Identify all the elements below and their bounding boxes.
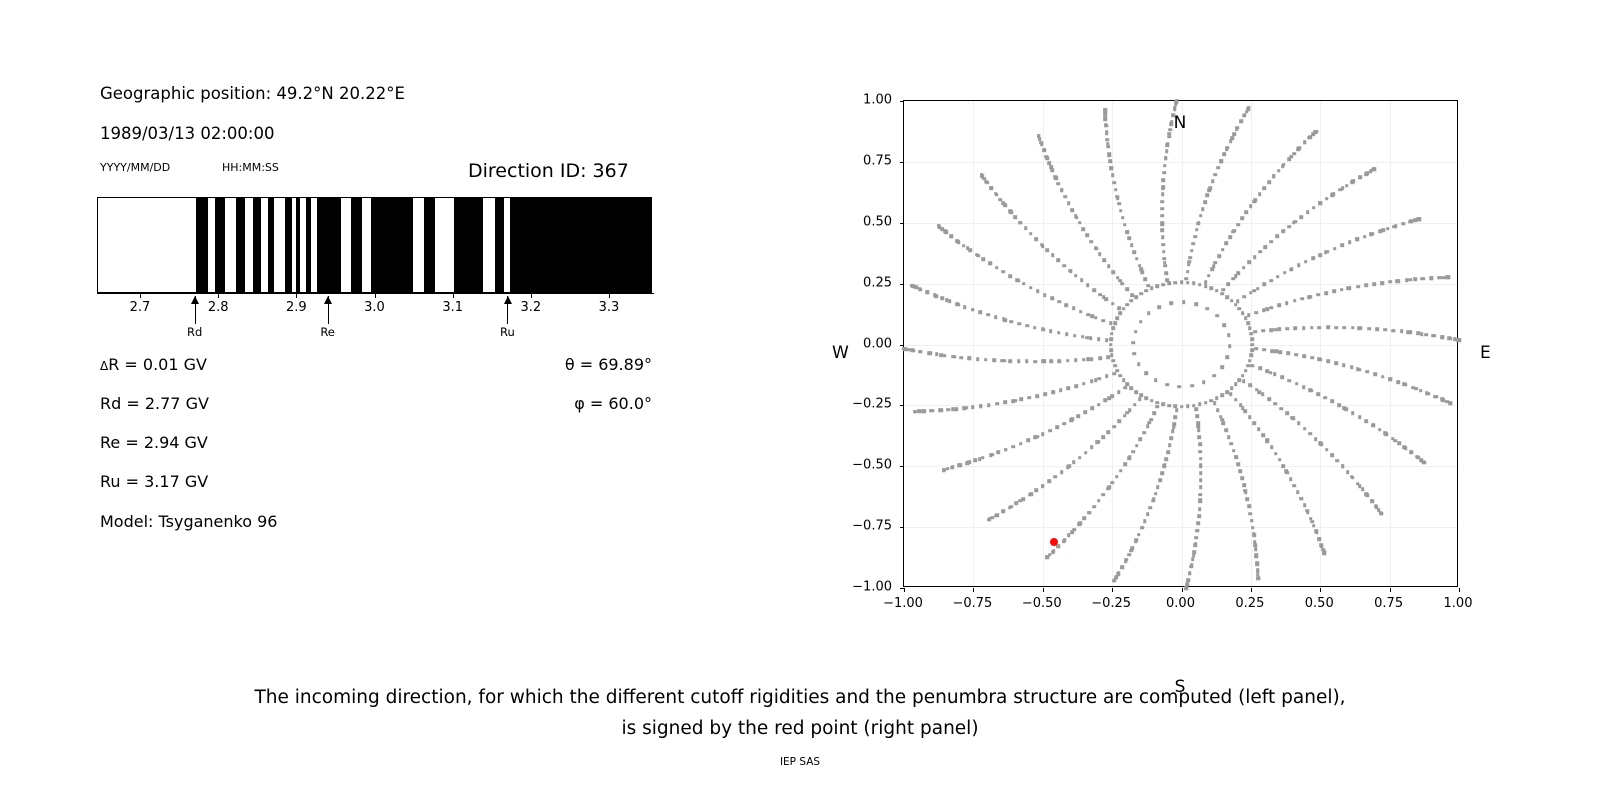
direction-point	[1111, 270, 1115, 274]
direction-point	[1243, 295, 1247, 299]
direction-point	[1169, 301, 1173, 305]
direction-point	[1270, 306, 1274, 310]
direction-point	[1172, 422, 1176, 426]
direction-point	[1130, 299, 1134, 303]
direction-point	[1161, 283, 1165, 287]
direction-point	[1072, 307, 1076, 311]
direction-point	[1427, 392, 1431, 396]
direction-point	[958, 464, 962, 468]
direction-point	[1158, 478, 1162, 482]
direction-point	[1269, 328, 1273, 332]
x-axis-tick-label: −1.00	[883, 596, 923, 611]
direction-point	[1371, 424, 1375, 428]
direction-point	[1449, 402, 1453, 406]
x-axis-tick-label: 0.75	[1374, 596, 1403, 611]
selected-direction-point[interactable]	[1050, 538, 1058, 546]
direction-point	[1138, 264, 1142, 268]
direction-point	[1025, 360, 1029, 364]
direction-point	[1198, 403, 1202, 407]
direction-point	[1109, 348, 1113, 352]
direction-point	[1174, 405, 1178, 409]
direction-point	[1236, 126, 1240, 130]
direction-point	[1355, 238, 1359, 242]
direction-point	[1371, 232, 1375, 236]
direction-point	[956, 239, 960, 243]
direction-point	[1263, 348, 1267, 352]
param-ru: Ru = 3.17 GV	[100, 472, 208, 491]
direction-point	[1229, 442, 1233, 446]
direction-point	[1240, 217, 1244, 221]
direction-point	[1104, 123, 1108, 127]
direction-point	[1110, 395, 1114, 399]
direction-point	[1351, 411, 1355, 415]
direction-point	[1097, 403, 1101, 407]
direction-point	[1128, 237, 1132, 241]
direction-point	[1041, 432, 1045, 436]
direction-point	[1199, 478, 1203, 482]
direction-point	[995, 402, 999, 406]
direction-point	[1124, 559, 1128, 563]
direction-point	[1125, 383, 1129, 387]
direction-point	[1111, 359, 1115, 363]
direction-point	[1033, 326, 1037, 330]
direction-point	[1297, 264, 1301, 268]
direction-point	[1285, 412, 1289, 416]
direction-point	[1139, 292, 1143, 296]
direction-point	[1161, 243, 1165, 247]
direction-point	[1196, 421, 1200, 425]
direction-point	[1345, 184, 1349, 188]
direction-point	[1418, 217, 1422, 221]
direction-point	[1289, 477, 1293, 481]
direction-point	[1160, 214, 1164, 218]
direction-point	[1114, 188, 1118, 192]
direction-point	[1219, 159, 1223, 163]
direction-point	[1244, 316, 1248, 320]
direction-point	[1134, 295, 1138, 299]
direction-point	[1358, 368, 1362, 372]
time-format-hint: HH:MM:SS	[222, 161, 279, 174]
direction-point	[1230, 299, 1234, 303]
direction-point	[1125, 230, 1129, 234]
direction-point	[1113, 364, 1117, 368]
direction-point	[1067, 386, 1071, 390]
direction-point	[1282, 163, 1286, 167]
direction-point	[1082, 382, 1086, 386]
direction-point	[1333, 247, 1337, 251]
direction-point	[1249, 332, 1253, 336]
direction-point	[1111, 302, 1115, 306]
direction-point	[1255, 562, 1259, 566]
direction-point	[992, 359, 996, 363]
direction-point	[1045, 248, 1049, 252]
direction-point	[1277, 169, 1281, 173]
direction-point	[1195, 228, 1199, 232]
direction-point	[1043, 293, 1047, 297]
direction-point	[1340, 288, 1344, 292]
direction-point	[1350, 366, 1354, 370]
y-axis-tick-label: 0.00	[828, 336, 892, 351]
penumbra-forbidden-bar	[215, 198, 225, 292]
direction-point	[1115, 475, 1119, 479]
direction-point	[1080, 279, 1084, 283]
direction-point	[1248, 327, 1252, 331]
direction-point	[1363, 235, 1367, 239]
penumbra-forbidden-bar	[253, 198, 261, 292]
x-axis-tick	[1459, 588, 1460, 592]
direction-point	[985, 180, 989, 184]
direction-point	[1297, 422, 1301, 426]
direction-point	[1154, 378, 1158, 382]
direction-point	[1156, 401, 1160, 405]
direction-point	[1070, 418, 1074, 422]
direction-point	[1225, 295, 1229, 299]
direction-point	[1131, 546, 1135, 550]
direction-point	[1291, 417, 1295, 421]
direction-point	[1195, 536, 1199, 540]
direction-point	[1070, 208, 1074, 212]
direction-point	[1449, 337, 1453, 341]
direction-point	[1303, 504, 1307, 508]
direction-point	[1082, 517, 1086, 521]
direction-point	[1074, 384, 1078, 388]
direction-point	[1135, 257, 1139, 261]
direction-point	[1303, 427, 1307, 431]
direction-point	[1117, 390, 1121, 394]
x-axis-tick-label: −0.50	[1022, 596, 1062, 611]
direction-point	[1213, 402, 1217, 406]
direction-point	[1173, 106, 1177, 110]
direction-point	[1232, 449, 1236, 453]
direction-point	[1262, 308, 1266, 312]
direction-point	[1167, 135, 1171, 139]
direction-point	[1341, 464, 1345, 468]
direction-point	[1232, 133, 1236, 137]
direction-point	[1105, 338, 1109, 342]
x-axis-tick	[1182, 588, 1183, 592]
datetime-label: 1989/03/13 02:00:00	[100, 124, 274, 143]
direction-point	[1196, 529, 1200, 533]
direction-point	[1027, 396, 1031, 400]
y-axis-tick-label: 0.50	[828, 214, 892, 229]
direction-point	[1123, 463, 1127, 467]
direction-point	[976, 357, 980, 361]
direction-point	[1261, 393, 1265, 397]
direction-point	[1325, 197, 1329, 201]
direction-point	[1380, 281, 1384, 285]
direction-point	[980, 174, 984, 178]
direction-point	[1442, 398, 1446, 402]
direction-point	[1292, 152, 1296, 156]
direction-point	[1175, 408, 1179, 412]
param-re: Re = 2.94 GV	[100, 433, 208, 452]
direction-point	[1204, 401, 1208, 405]
direction-point	[1298, 146, 1302, 150]
axis-tick-label: 2.9	[286, 300, 307, 315]
direction-point	[1276, 275, 1280, 279]
direction-point	[1096, 441, 1100, 445]
direction-point	[1163, 164, 1167, 168]
direction-point	[981, 456, 985, 460]
direction-point	[1261, 433, 1265, 437]
direction-point	[963, 406, 967, 410]
direction-point	[1170, 436, 1174, 440]
direction-point	[1022, 282, 1026, 286]
direction-point	[1199, 486, 1203, 490]
direction-point	[1034, 238, 1038, 242]
direction-point	[1068, 269, 1072, 273]
direction-point	[1219, 415, 1223, 419]
direction-point	[1226, 355, 1230, 359]
direction-point	[1285, 301, 1289, 305]
direction-point	[1116, 369, 1120, 373]
x-axis-tick-label: −0.25	[1091, 596, 1131, 611]
direction-point	[1013, 215, 1017, 219]
direction-point	[1116, 572, 1120, 576]
direction-point	[1060, 470, 1064, 474]
direction-point	[1144, 371, 1148, 375]
direction-point	[1144, 277, 1148, 281]
direction-point	[1379, 512, 1383, 516]
direction-point	[1300, 215, 1304, 219]
direction-point	[1144, 289, 1148, 293]
penumbra-band	[97, 197, 652, 293]
axis-tick	[218, 293, 219, 298]
direction-point	[1199, 471, 1203, 475]
direction-point	[1275, 235, 1279, 239]
direction-point	[1309, 517, 1313, 521]
marker-arrow-ru	[507, 296, 508, 324]
y-axis-tick-label: 0.25	[828, 275, 892, 290]
direction-point	[1105, 374, 1109, 378]
penumbra-forbidden-bar	[454, 198, 484, 292]
direction-point	[1397, 442, 1401, 446]
direction-point	[1282, 464, 1286, 468]
direction-point	[1057, 182, 1061, 186]
direction-point	[1079, 310, 1083, 314]
direction-point	[1065, 332, 1069, 336]
direction-point	[1273, 328, 1277, 332]
penumbra-forbidden-bar	[510, 198, 652, 292]
y-axis-tick	[900, 405, 904, 406]
direction-point	[1188, 256, 1192, 260]
direction-point	[1290, 267, 1294, 271]
direction-point	[1198, 443, 1202, 447]
direction-point	[1258, 250, 1262, 254]
penumbra-forbidden-bar	[268, 198, 274, 292]
direction-point	[1140, 526, 1144, 530]
direction-point	[1280, 376, 1284, 380]
direction-point	[1139, 320, 1143, 324]
direction-point	[1266, 307, 1270, 311]
direction-point	[1121, 216, 1125, 220]
direction-point	[1057, 331, 1061, 335]
direction-point	[1113, 321, 1117, 325]
axis-tick-label: 3.1	[442, 300, 463, 315]
direction-point	[1134, 390, 1138, 394]
direction-point	[1119, 469, 1123, 473]
direction-point	[1370, 500, 1374, 504]
direction-point	[1028, 493, 1032, 497]
direction-point	[1317, 538, 1321, 542]
direction-point	[1059, 389, 1063, 393]
direction-point	[1269, 279, 1273, 283]
direction-point	[1384, 432, 1388, 436]
direction-point	[1086, 283, 1090, 287]
direction-point	[1150, 286, 1154, 290]
direction-point	[1256, 577, 1260, 581]
penumbra-forbidden-bar	[424, 198, 435, 292]
direction-point	[1271, 349, 1275, 353]
direction-point	[1287, 352, 1291, 356]
direction-point	[938, 408, 942, 412]
direction-point	[994, 514, 998, 518]
direction-point	[1174, 415, 1178, 419]
direction-point	[1199, 214, 1203, 218]
compass-north-label: N	[1174, 113, 1187, 133]
direction-point	[1098, 356, 1102, 360]
direction-point	[1346, 470, 1350, 474]
direction-point	[1072, 528, 1076, 532]
direction-point	[1262, 283, 1266, 287]
penumbra-axis: 2.72.82.93.03.13.23.3RdReRu	[97, 293, 654, 349]
direction-point	[1204, 284, 1208, 288]
direction-point	[1175, 99, 1179, 103]
direction-point	[1361, 488, 1365, 492]
direction-point	[943, 230, 947, 234]
direction-point	[1250, 343, 1254, 347]
direction-point	[1040, 243, 1044, 247]
direction-point	[1039, 141, 1043, 145]
direction-point	[1109, 343, 1113, 347]
axis-tick	[375, 293, 376, 298]
direction-point	[1285, 471, 1289, 475]
direction-point	[1196, 522, 1200, 526]
direction-point	[1251, 364, 1255, 368]
direction-point	[994, 315, 998, 319]
direction-point	[1245, 210, 1249, 214]
direction-point	[1416, 332, 1420, 336]
direction-point	[1109, 322, 1113, 326]
direction-point	[1102, 258, 1106, 262]
direction-point	[1236, 223, 1240, 227]
direction-point	[1186, 405, 1190, 409]
direction-point	[1107, 264, 1111, 268]
direction-point	[1402, 222, 1406, 226]
direction-point	[995, 266, 999, 270]
direction-point	[1254, 548, 1258, 552]
direction-point	[1193, 235, 1197, 239]
direction-point	[1197, 221, 1201, 225]
direction-point	[1086, 313, 1090, 317]
direction-point	[1404, 383, 1408, 387]
direction-point	[1066, 465, 1070, 469]
direction-point	[1246, 364, 1250, 368]
direction-point	[1326, 360, 1330, 364]
direction-point	[1056, 545, 1060, 549]
direction-point	[1002, 318, 1006, 322]
direction-point	[1303, 141, 1307, 145]
direction-point	[1256, 569, 1260, 573]
direction-point	[966, 461, 970, 465]
axis-tick	[609, 293, 610, 298]
x-axis-tick-label: −0.75	[952, 596, 992, 611]
direction-point	[1293, 484, 1297, 488]
direction-point	[1106, 487, 1110, 491]
direction-point	[1356, 285, 1360, 289]
direction-point	[1110, 332, 1114, 336]
direction-point	[1310, 326, 1314, 330]
direction-point	[1139, 437, 1143, 441]
direction-point	[1116, 276, 1120, 280]
direction-point	[1318, 358, 1322, 362]
direction-point	[1356, 482, 1360, 486]
direction-point	[1238, 307, 1242, 311]
penumbra-forbidden-bar	[317, 198, 341, 292]
direction-point	[1229, 392, 1233, 396]
direction-point	[1076, 414, 1080, 418]
direction-point	[1446, 276, 1450, 280]
direction-point	[1375, 506, 1379, 510]
direction-point	[1340, 244, 1344, 248]
direction-point	[1156, 405, 1160, 409]
direction-point	[1003, 401, 1007, 405]
y-axis-tick	[900, 588, 904, 589]
direction-point	[1049, 359, 1053, 363]
direction-point	[1110, 167, 1114, 171]
direction-point	[1082, 358, 1086, 362]
direction-point	[1216, 166, 1220, 170]
direction-point	[1072, 461, 1076, 465]
direction-point	[1048, 429, 1052, 433]
direction-point	[1306, 210, 1310, 214]
direction-point	[925, 290, 929, 294]
direction-point	[1244, 490, 1248, 494]
direction-point	[1231, 277, 1235, 281]
x-axis-tick-label: 0.25	[1235, 596, 1264, 611]
direction-point	[1089, 336, 1093, 340]
direction-point	[1123, 414, 1127, 418]
direction-point	[1253, 421, 1257, 425]
direction-point	[1392, 329, 1396, 333]
direction-point	[1008, 209, 1012, 213]
direction-point	[1137, 533, 1141, 537]
direction-point	[1252, 533, 1256, 537]
direction-point	[1202, 380, 1206, 384]
direction-point	[940, 297, 944, 301]
direction-point	[1050, 297, 1054, 301]
direction-point	[1258, 367, 1262, 371]
direction-point	[1206, 307, 1210, 311]
direction-point	[1074, 358, 1078, 362]
direction-point	[1253, 540, 1257, 544]
direction-point	[1165, 383, 1169, 387]
direction-point	[1065, 303, 1069, 307]
direction-point	[1359, 176, 1363, 180]
y-axis-tick	[900, 284, 904, 285]
direction-point	[1186, 270, 1190, 274]
x-axis-tick-label: 0.00	[1166, 596, 1195, 611]
axis-tick-label: 3.2	[520, 300, 541, 315]
direction-point	[978, 311, 982, 315]
direction-point	[989, 186, 993, 190]
y-axis-tick	[900, 345, 904, 346]
direction-point	[1105, 130, 1109, 134]
direction-point	[1102, 493, 1106, 497]
direction-point	[1113, 579, 1117, 583]
direction-point	[1122, 378, 1126, 382]
direction-point	[1336, 459, 1340, 463]
